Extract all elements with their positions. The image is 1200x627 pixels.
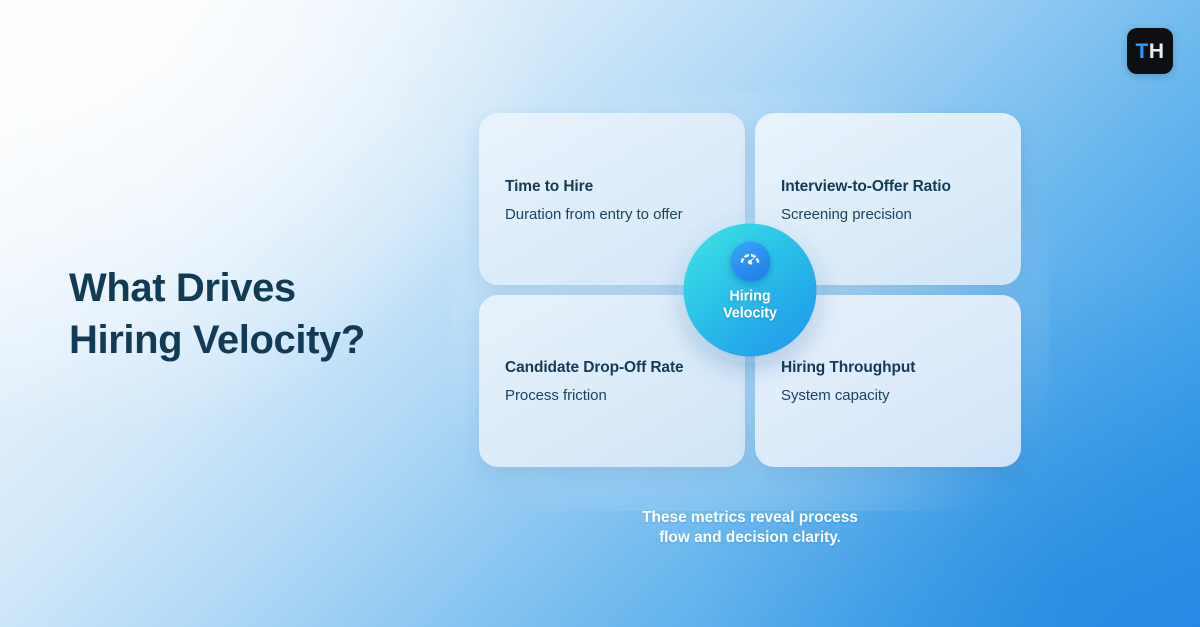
- background-light-wash: [0, 0, 560, 440]
- metric-card-description: System capacity: [781, 387, 995, 404]
- metrics-cluster: Time to Hire Duration from entry to offe…: [479, 113, 1021, 467]
- metric-card-title: Interview-to-Offer Ratio: [781, 178, 995, 196]
- logo-letter-h: H: [1149, 41, 1165, 62]
- page-title-line-2: Hiring Velocity?: [69, 314, 499, 366]
- metric-card-title: Candidate Drop-Off Rate: [505, 359, 719, 377]
- speedometer-icon: [730, 242, 770, 282]
- center-hub-label-line-2: Velocity: [723, 306, 777, 323]
- page-title-line-1: What Drives: [69, 262, 499, 314]
- infographic-canvas: TH What Drives Hiring Velocity? Time to …: [0, 0, 1200, 627]
- metric-card-description: Screening precision: [781, 206, 995, 223]
- caption-line-1: These metrics reveal process: [479, 508, 1021, 528]
- metric-card-title: Time to Hire: [505, 178, 719, 196]
- center-hub: Hiring Velocity: [684, 224, 817, 357]
- metric-card-description: Duration from entry to offer: [505, 206, 719, 223]
- caption-line-2: flow and decision clarity.: [479, 528, 1021, 548]
- center-hub-label-line-1: Hiring: [723, 289, 777, 306]
- logo-letter-t: T: [1136, 41, 1149, 62]
- page-title: What Drives Hiring Velocity?: [69, 262, 499, 366]
- brand-logo-badge: TH: [1127, 28, 1173, 74]
- center-hub-label: Hiring Velocity: [723, 289, 777, 323]
- caption: These metrics reveal process flow and de…: [479, 508, 1021, 548]
- metric-card-description: Process friction: [505, 387, 719, 404]
- metric-card-title: Hiring Throughput: [781, 359, 995, 377]
